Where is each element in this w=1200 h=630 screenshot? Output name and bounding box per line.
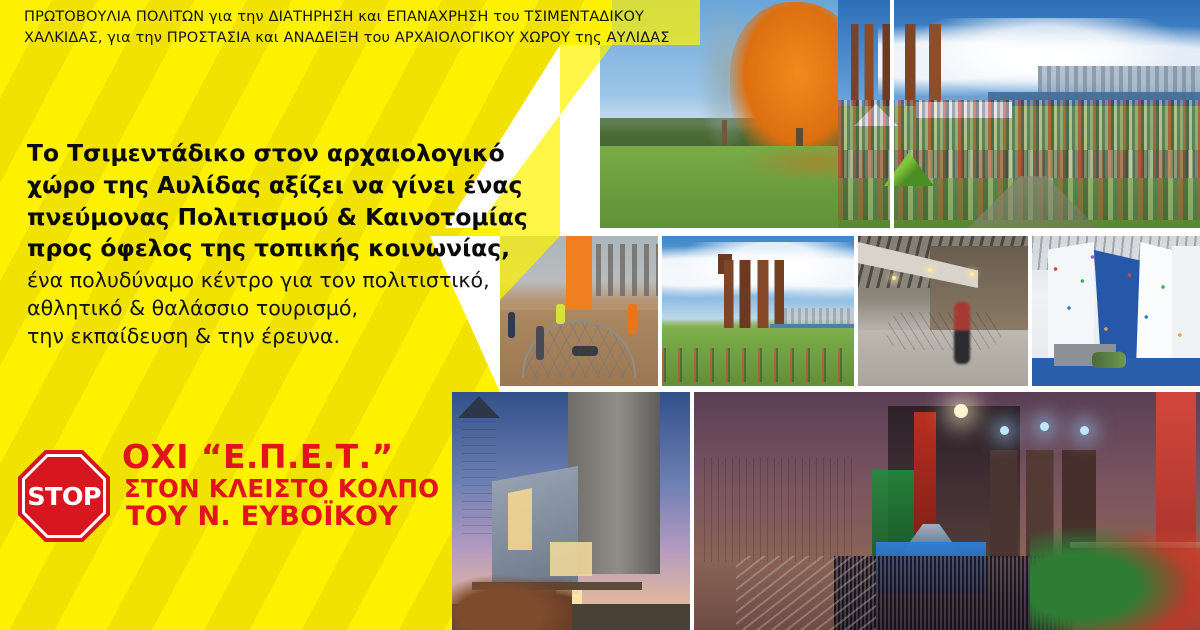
stop-text-lines: ΟΧΙ “Ε.Π.Ε.Τ.” ΣΤΟΝ ΚΛΕΙΣΤΟ ΚΟΛΠΟ ΤΟΥ Ν.… <box>122 440 439 533</box>
floodlight <box>954 404 968 418</box>
header-statement: ΠΡΩΤΟΒΟΥΛΙΑ ΠΟΛΙΤΩΝ για την ΔΙΑΤΗΡΗΣΗ κα… <box>24 7 724 48</box>
main-statement: Το Τσιμεντάδικο στον αρχαιολογικό χώρο τ… <box>27 138 547 350</box>
photo-night-concert <box>694 392 1200 630</box>
ceiling-light <box>970 272 974 276</box>
stop-line-3: ΤΟΥ Ν. ΕΥΒΟΪΚΟΥ <box>122 502 439 532</box>
stop-sign-icon: STOP <box>18 450 110 542</box>
photo-gap <box>690 392 694 630</box>
red-lit-stack <box>914 412 936 532</box>
poster-canvas: ΠΡΩΤΟΒΟΥΛΙΑ ΠΟΛΙΤΩΝ για την ΔΙΑΤΗΡΗΣΗ κα… <box>0 0 1200 630</box>
metal-silo <box>462 414 496 534</box>
lit-window <box>508 488 532 550</box>
photo-gasworks-park <box>662 236 854 386</box>
lit-window <box>550 542 592 576</box>
floodlight <box>1080 426 1089 435</box>
visitors-layer <box>662 348 854 382</box>
industrial-stacks <box>596 244 658 296</box>
climber-figure <box>1092 352 1126 368</box>
stairway <box>736 556 876 630</box>
photo-gap <box>452 386 1200 392</box>
header-line-2: ΧΑΛΚΙΔΑΣ, για την ΠΡΟΣΤΑΣΙΑ και ΑΝΑΔΕΙΞΗ… <box>24 28 724 49</box>
child-figure <box>572 346 598 356</box>
header-line-1: ΠΡΩΤΟΒΟΥΛΙΑ ΠΟΛΙΤΩΝ για την ΔΙΑΤΗΡΗΣΗ κα… <box>24 7 724 28</box>
ceiling-light <box>892 276 896 280</box>
photo-climbing-gym <box>1032 236 1200 386</box>
floodlight <box>1040 422 1049 431</box>
gasworks-structure <box>848 24 998 106</box>
worker-vest <box>556 304 565 324</box>
stop-line-2: ΣΤΟΝ ΚΛΕΙΣΤΟ ΚΟΛΠΟ <box>122 475 439 502</box>
photo-gap <box>600 228 1200 236</box>
photo-gap <box>890 0 894 232</box>
statement-bold-line-4: προς όφελος της τοπικής κοινωνίας, <box>27 233 547 265</box>
woven-pod-installation <box>886 312 1002 350</box>
photo-gap <box>658 236 662 386</box>
photo-concrete-building-dusk <box>452 392 690 630</box>
lit-trees <box>1030 520 1200 630</box>
statement-light-line-2: αθλητικό & θαλάσσιο τουρισμό, <box>27 295 547 323</box>
rusted-towers <box>724 260 784 334</box>
photo-gap <box>854 236 858 386</box>
stop-line-1: ΟΧΙ “Ε.Π.Ε.Τ.” <box>122 440 439 475</box>
statement-bold-line-2: χώρο της Αυλίδας αξίζει να γίνει ένας <box>27 170 547 202</box>
photo-gap <box>1028 236 1032 386</box>
floodlight <box>1000 426 1009 435</box>
photo-industrial-hall <box>858 236 1028 386</box>
autumn-shrubs <box>452 574 572 630</box>
stop-sign-label: STOP <box>27 482 101 511</box>
statement-light-line-3: την εκπαίδευση & την έρευνα. <box>27 323 547 351</box>
walking-person <box>954 302 970 364</box>
statement-bold-line-1: Το Τσιμεντάδικο στον αρχαιολογικό <box>27 138 547 170</box>
statement-light-line-1: ένα πολυδύναμο κέντρο για τον πολιτιστικ… <box>27 267 547 295</box>
stop-callout: STOP ΟΧΙ “Ε.Π.Ε.Τ.” ΣΤΟΝ ΚΛΕΙΣΤΟ ΚΟΛΠΟ Τ… <box>18 440 438 550</box>
ceiling-light <box>928 268 932 272</box>
child-figure <box>628 304 637 334</box>
statement-bold-line-3: πνεύμονας Πολιτισμού & Καινοτομίας <box>27 202 547 234</box>
rusted-block-building <box>704 458 856 562</box>
